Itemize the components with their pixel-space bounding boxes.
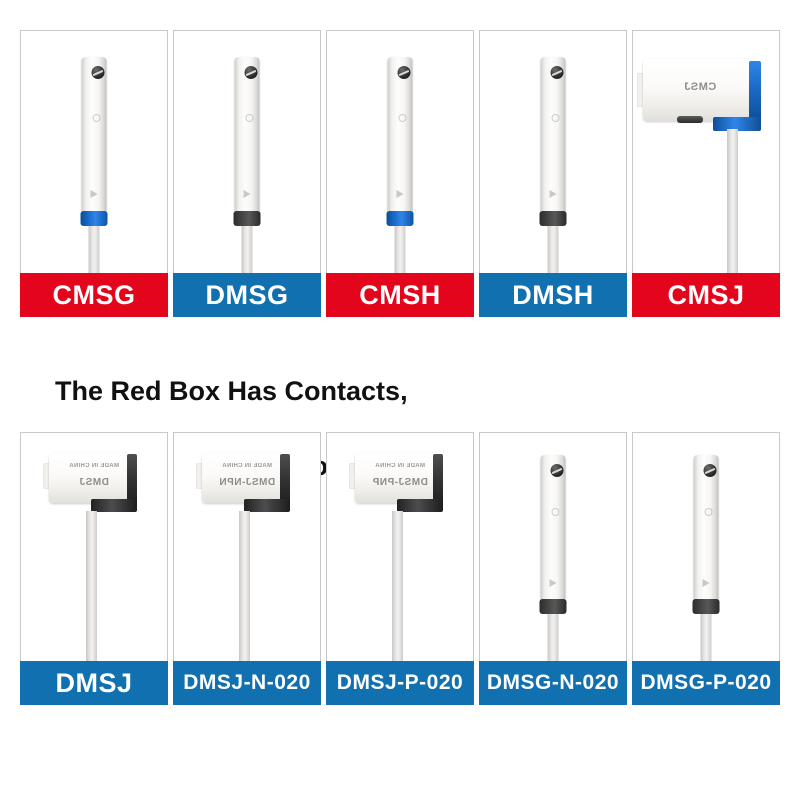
- direction-arrow-icon: [702, 579, 709, 587]
- sensor-end-cap: [749, 61, 761, 121]
- product-sheet: CMSG DMSG CMSH DMSH CMSJ: [0, 0, 800, 800]
- sensor-cable: [395, 223, 406, 273]
- sensor-collar: [540, 211, 567, 226]
- direction-arrow-icon: [396, 190, 403, 198]
- product-label-plate: CMSJ: [632, 273, 780, 317]
- direction-arrow-icon: [549, 190, 556, 198]
- product-photo: [632, 432, 780, 661]
- product-photo: CMSJ: [632, 30, 780, 273]
- product-label-text: DMSH: [512, 280, 594, 311]
- sensor-cable: [727, 129, 738, 273]
- product-cell[interactable]: DMSH: [479, 30, 627, 317]
- led-marker-icon: [92, 114, 100, 122]
- sensor-body: MADE IN CHINA DMSJ: [43, 453, 149, 511]
- product-label-plate: DMSJ-P-020: [326, 661, 474, 705]
- sensor-cable: [392, 511, 403, 661]
- sensor-cable: [701, 611, 712, 661]
- sensor-cable-boot: [91, 499, 137, 512]
- product-label-text: DMSG: [206, 280, 289, 311]
- sensor-collar: [540, 599, 567, 614]
- led-marker-icon: [245, 114, 253, 122]
- sensor-body: MADE IN CHINA DMSJ-PNP: [349, 453, 455, 511]
- sensor-body: [235, 57, 260, 215]
- product-photo: MADE IN CHINA DMSJ-PNP: [326, 432, 474, 661]
- sensor-collar: [81, 211, 108, 226]
- connector-port: [677, 116, 703, 123]
- sensor-cable-boot: [397, 499, 443, 512]
- sensor-body: [541, 57, 566, 215]
- product-cell[interactable]: DMSG: [173, 30, 321, 317]
- sensor-body: [388, 57, 413, 215]
- product-cell[interactable]: DMSG-N-020: [479, 432, 627, 705]
- product-label-text: DMSJ: [55, 668, 132, 699]
- sensor-body: CMSJ: [637, 59, 779, 129]
- product-label-plate: DMSJ-N-020: [173, 661, 321, 705]
- product-photo: [479, 432, 627, 661]
- led-marker-icon: [398, 114, 406, 122]
- engraved-origin-text: MADE IN CHINA: [369, 463, 431, 469]
- sensor-body: [541, 455, 566, 603]
- direction-arrow-icon: [90, 190, 97, 198]
- engraved-model-text: CMSJ: [663, 81, 737, 93]
- screw-icon: [703, 464, 716, 477]
- sensor-cable: [548, 611, 559, 661]
- screw-icon: [244, 66, 257, 79]
- product-label-text: DMSG-P-020: [640, 671, 771, 695]
- product-label-plate: CMSG: [20, 273, 168, 317]
- sensor-body: [694, 455, 719, 603]
- product-label-plate: DMSH: [479, 273, 627, 317]
- product-cell[interactable]: MADE IN CHINA DMSJ DMSJ: [20, 432, 168, 705]
- sensor-cable-boot: [244, 499, 290, 512]
- product-cell[interactable]: MADE IN CHINA DMSJ-NPN DMSJ-N-020: [173, 432, 321, 705]
- product-cell[interactable]: CMSH: [326, 30, 474, 317]
- sensor-cable: [242, 223, 253, 273]
- product-label-plate: DMSG-P-020: [632, 661, 780, 705]
- product-label-text: CMSJ: [667, 280, 744, 311]
- sensor-collar: [234, 211, 261, 226]
- engraved-model-text: DMSJ: [59, 477, 129, 488]
- product-label-text: DMSJ-P-020: [337, 671, 463, 695]
- sensor-collar: [693, 599, 720, 614]
- product-photo: [173, 30, 321, 273]
- product-row-bottom: MADE IN CHINA DMSJ DMSJ MADE IN CHINA DM…: [20, 432, 780, 705]
- sensor-body: MADE IN CHINA DMSJ-NPN: [196, 453, 302, 511]
- product-label-text: CMSH: [359, 280, 441, 311]
- product-cell[interactable]: DMSG-P-020: [632, 432, 780, 705]
- product-row-top: CMSG DMSG CMSH DMSH CMSJ: [20, 30, 780, 317]
- sensor-collar: [387, 211, 414, 226]
- product-cell[interactable]: CMSJ CMSJ: [632, 30, 780, 317]
- engraved-model-text: DMSJ-PNP: [365, 477, 435, 488]
- product-label-plate: DMSJ: [20, 661, 168, 705]
- product-label-plate: DMSG: [173, 273, 321, 317]
- product-cell[interactable]: CMSG: [20, 30, 168, 317]
- sensor-cable: [86, 511, 97, 661]
- direction-arrow-icon: [243, 190, 250, 198]
- product-label-text: DMSG-N-020: [487, 671, 619, 695]
- product-photo: [326, 30, 474, 273]
- product-photo: [20, 30, 168, 273]
- direction-arrow-icon: [549, 579, 556, 587]
- product-photo: MADE IN CHINA DMSJ-NPN: [173, 432, 321, 661]
- product-photo: [479, 30, 627, 273]
- legend-line-1: The Red Box Has Contacts,: [55, 373, 436, 410]
- product-label-text: DMSJ-N-020: [183, 671, 311, 695]
- engraved-origin-text: MADE IN CHINA: [63, 463, 125, 469]
- product-label-plate: DMSG-N-020: [479, 661, 627, 705]
- engraved-model-text: DMSJ-NPN: [212, 477, 282, 488]
- led-marker-icon: [551, 114, 559, 122]
- sensor-cable: [89, 223, 100, 273]
- screw-icon: [550, 66, 563, 79]
- product-cell[interactable]: MADE IN CHINA DMSJ-PNP DMSJ-P-020: [326, 432, 474, 705]
- led-marker-icon: [551, 508, 559, 516]
- sensor-body: [82, 57, 107, 215]
- sensor-cable: [548, 223, 559, 273]
- sensor-cable: [239, 511, 250, 661]
- screw-icon: [397, 66, 410, 79]
- led-marker-icon: [704, 508, 712, 516]
- engraved-origin-text: MADE IN CHINA: [216, 463, 278, 469]
- product-label-text: CMSG: [53, 280, 136, 311]
- screw-icon: [91, 66, 104, 79]
- product-photo: MADE IN CHINA DMSJ: [20, 432, 168, 661]
- screw-icon: [550, 464, 563, 477]
- product-label-plate: CMSH: [326, 273, 474, 317]
